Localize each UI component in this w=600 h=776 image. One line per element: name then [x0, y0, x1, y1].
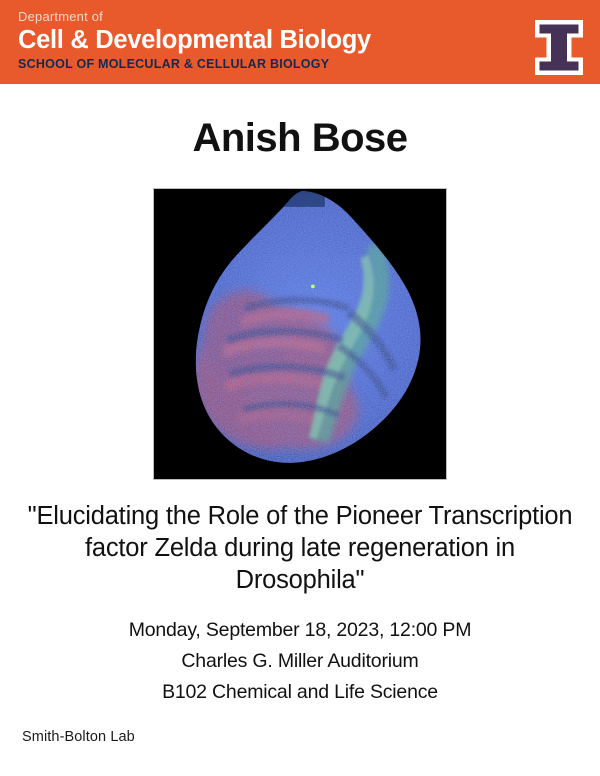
speaker-name-heading: Anish Bose — [0, 113, 600, 163]
lab-name-footer: Smith-Bolton Lab — [22, 728, 135, 747]
event-details-block: Monday, September 18, 2023, 12:00 PM Cha… — [18, 615, 582, 708]
talk-title-heading: "Elucidating the Role of the Pioneer Tra… — [18, 500, 582, 596]
event-room: B102 Chemical and Life Science — [18, 677, 582, 708]
department-header-banner: Department of Cell & Developmental Biolo… — [0, 0, 600, 84]
wing-disc-image — [154, 189, 446, 479]
header-text-block: Department of Cell & Developmental Biolo… — [18, 9, 488, 72]
block-i-logo-icon — [532, 17, 586, 78]
department-eyebrow-label: Department of — [18, 9, 488, 25]
department-name-title: Cell & Developmental Biology — [18, 26, 488, 55]
event-venue: Charles G. Miller Auditorium — [18, 646, 582, 677]
event-datetime: Monday, September 18, 2023, 12:00 PM — [18, 615, 582, 646]
school-name-subtitle: SCHOOL OF MOLECULAR & CELLULAR BIOLOGY — [18, 57, 488, 72]
micrograph-figure — [153, 188, 447, 480]
